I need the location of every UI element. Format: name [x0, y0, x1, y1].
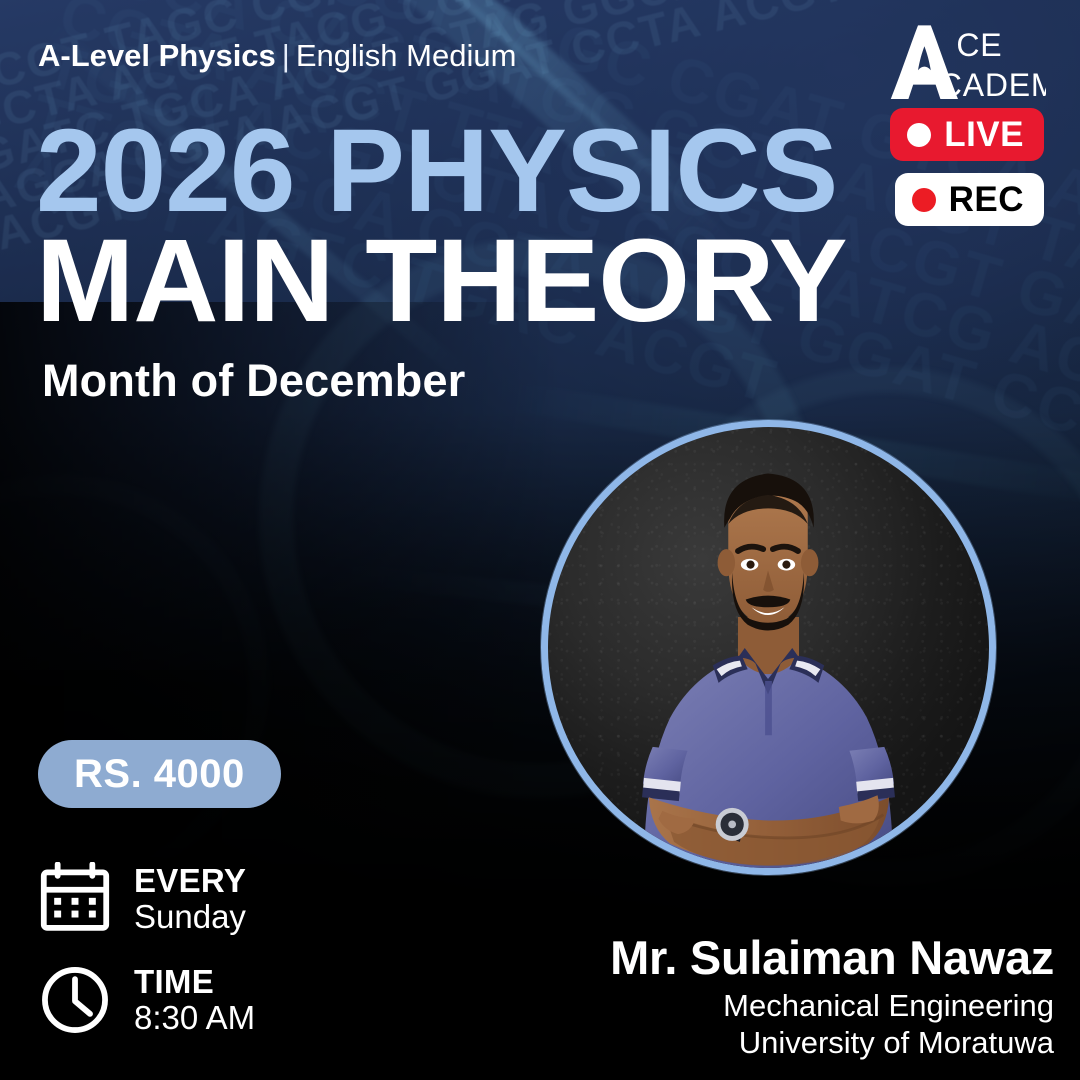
course-medium-label: English Medium [296, 38, 517, 73]
instructor-name: Mr. Sulaiman Nawaz [610, 930, 1054, 985]
rec-badge-label: REC [949, 182, 1024, 217]
schedule-time-value: 8:30 AM [134, 1000, 255, 1036]
page-title-line1: 2026 PHYSICS [36, 112, 837, 230]
record-dot-icon [912, 188, 936, 212]
schedule-row-day: EVERY Sunday [38, 862, 246, 936]
course-header: A-Level Physics|English Medium [38, 38, 516, 74]
svg-text:CADEMY: CADEMY [939, 67, 1046, 103]
instructor-portrait [541, 420, 996, 875]
instructor-department: Mechanical Engineering [610, 988, 1054, 1025]
schedule-day-value: Sunday [134, 899, 246, 935]
poster-canvas: AGCT ACGT TAGC CGAT GTCA ACGT TGCA CAGT … [0, 0, 1080, 1080]
calendar-icon [38, 862, 112, 936]
ace-academy-logo: CE CADEMY [886, 22, 1046, 104]
live-dot-icon [907, 123, 931, 147]
schedule-day-label: EVERY [134, 863, 246, 899]
schedule-row-time: TIME 8:30 AM [38, 963, 255, 1037]
page-subtitle: Month of December [42, 355, 465, 407]
live-badge[interactable]: LIVE [890, 108, 1044, 161]
header-separator: | [276, 38, 296, 73]
instructor-university: University of Moratuwa [610, 1025, 1054, 1062]
schedule-time-text: TIME 8:30 AM [134, 964, 255, 1037]
schedule-day-text: EVERY Sunday [134, 863, 246, 936]
live-badge-label: LIVE [944, 117, 1024, 152]
clock-icon [38, 963, 112, 1037]
price-badge[interactable]: RS. 4000 [38, 740, 281, 808]
instructor-photo [548, 427, 989, 868]
schedule-time-label: TIME [134, 964, 255, 1000]
svg-text:CE: CE [956, 27, 1002, 63]
course-level-label: A-Level Physics [38, 38, 276, 73]
instructor-credits: Mr. Sulaiman Nawaz Mechanical Engineerin… [610, 930, 1054, 1062]
status-badges: LIVE REC [890, 108, 1044, 226]
page-title-line2: MAIN THEORY [36, 222, 847, 340]
rec-badge[interactable]: REC [895, 173, 1044, 226]
